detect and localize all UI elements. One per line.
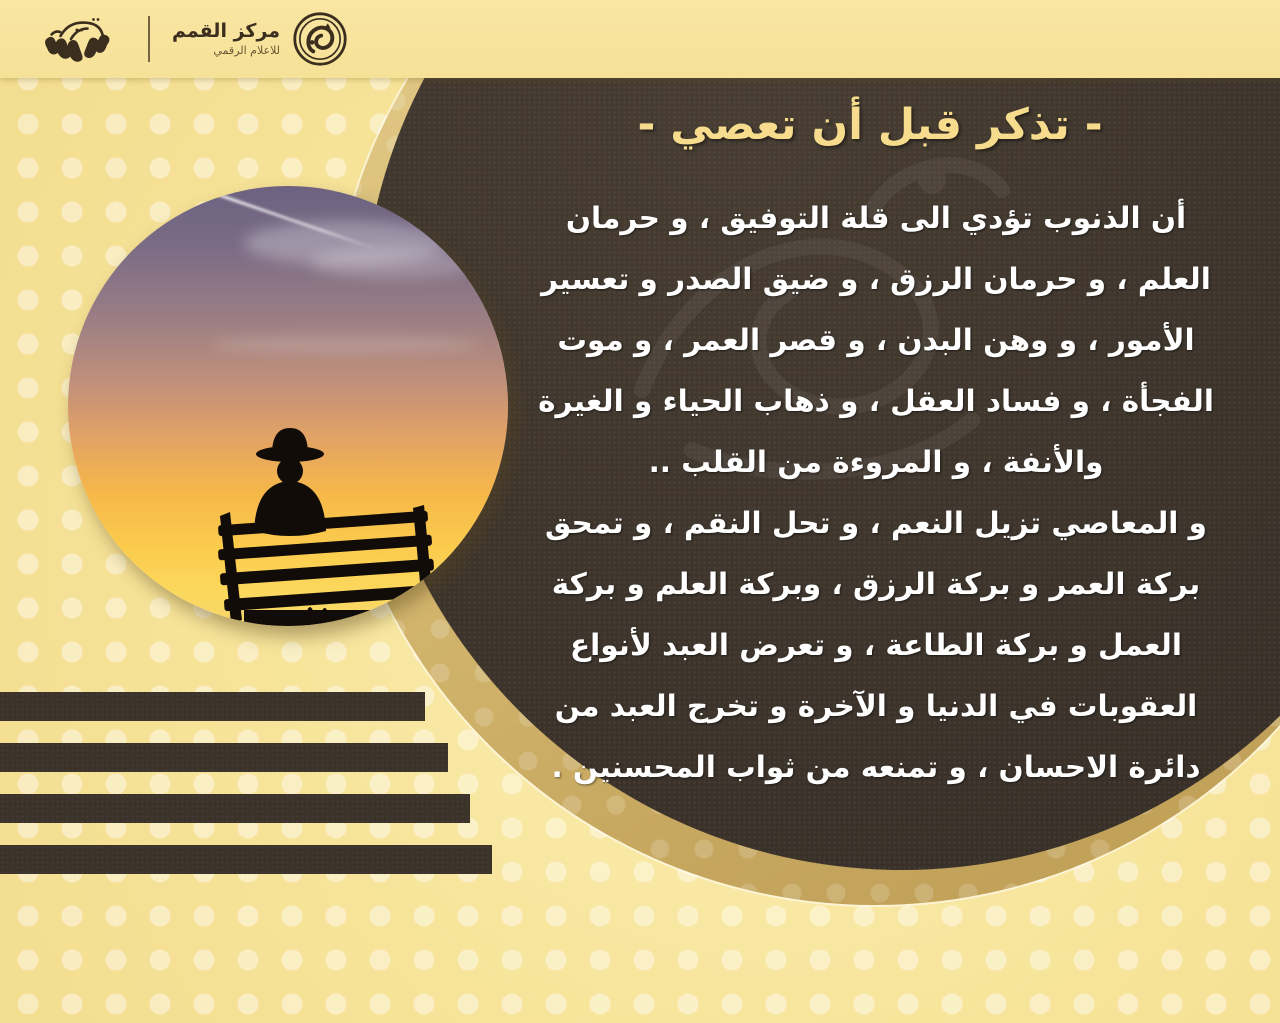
vertical-divider-icon [148, 16, 150, 62]
body-line: العقوبات في الدنيا و الآخرة و تخرج العبد… [506, 676, 1246, 737]
body-line: الأمور ، و وهن البدن ، و قصر العمر ، و م… [506, 310, 1246, 371]
brand-title: مركز القمم [172, 21, 280, 42]
header-content: مركز القمم للاعلام الرقمي [34, 0, 348, 78]
body-line: والأنفة ، و المروءة من القلب .. [506, 432, 1246, 493]
body-line: بركة العمر و بركة الرزق ، وبركة العلم و … [506, 554, 1246, 615]
brand-text: مركز القمم للاعلام الرقمي [172, 21, 280, 57]
poster-body: أن الذنوب تؤدي الى قلة التوفيق ، و حرمان… [506, 188, 1246, 798]
body-line: دائرة الاحسان ، و تمنعه من ثواب المحسنين… [506, 737, 1246, 798]
header-bar: مركز القمم للاعلام الرقمي [0, 0, 1280, 78]
poster-canvas: مركز القمم للاعلام الرقمي [0, 0, 1280, 1023]
body-line: و المعاصي تزيل النعم ، و تحل النقم ، و ت… [506, 493, 1246, 554]
man-on-bench-silhouette-icon [68, 186, 508, 626]
body-line: أن الذنوب تؤدي الى قلة التوفيق ، و حرمان [506, 188, 1246, 249]
body-line: الفجأة ، و فساد العقل ، و ذهاب الحياء و … [506, 371, 1246, 432]
brand-lockup[interactable]: مركز القمم للاعلام الرقمي [172, 11, 348, 67]
paragraph-1: أن الذنوب تؤدي الى قلة التوفيق ، و حرمان… [506, 188, 1246, 493]
body-line: العمل و بركة الطاعة ، و تعرض العبد لأنوا… [506, 615, 1246, 676]
qimam-seal-icon [292, 11, 348, 67]
brand-subtitle: للاعلام الرقمي [213, 45, 280, 57]
hands-calligraphy-icon[interactable] [34, 9, 126, 69]
sunset-photo [68, 186, 508, 626]
page-title: - تذكر قبل أن تعصي - [500, 100, 1240, 150]
paragraph-2: و المعاصي تزيل النعم ، و تحل النقم ، و ت… [506, 493, 1246, 798]
body-line: العلم ، و حرمان الرزق ، و ضيق الصدر و تع… [506, 249, 1246, 310]
